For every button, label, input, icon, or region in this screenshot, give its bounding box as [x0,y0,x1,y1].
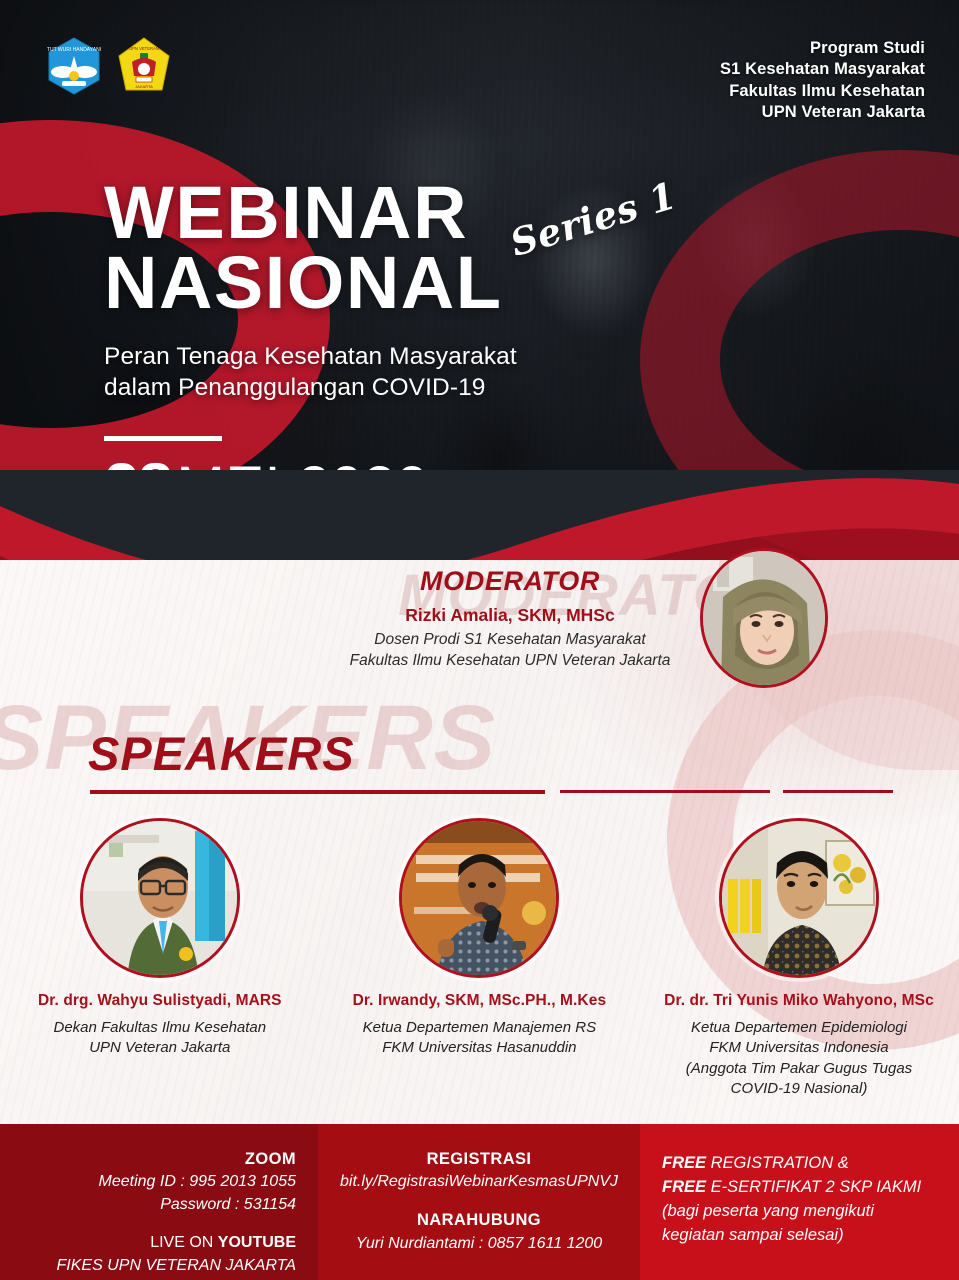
program-line-3: Fakultas Ilmu Kesehatan [720,81,925,102]
moderator-name: Rizki Amalia, SKM, MHSc [330,605,690,626]
zoom-heading: ZOOM [57,1148,296,1171]
youtube-label: YOUTUBE [218,1234,296,1251]
speaker-3-affiliation-line-2: FKM Universitas Indonesia [639,1038,959,1058]
benefit-free-2: FREE [662,1178,706,1196]
speaker-3-name: Dr. dr. Tri Yunis Miko Wahyono, MSc [639,992,959,1010]
zoom-password: Password : 531154 [57,1194,296,1217]
benefit-rest-2: E-SERTIFIKAT 2 SKP IAKMI [706,1178,921,1196]
live-on-label: LIVE ON YOUTUBE [57,1232,296,1255]
moderator-affiliation-line-1: Dosen Prodi S1 Kesehatan Masyarakat [330,630,690,651]
title-webinar: WEBINAR [104,178,864,248]
moderator-affiliation: Dosen Prodi S1 Kesehatan Masyarakat Faku… [330,630,690,672]
title-nasional-text: NASIONAL [104,241,502,324]
benefit-line-1: FREE REGISTRATION & [662,1152,921,1176]
speaker-1-affiliation-line-2: UPN Veteran Jakarta [0,1038,320,1058]
moderator-affiliation-line-2: Fakultas Ilmu Kesehatan UPN Veteran Jaka… [330,651,690,672]
benefit-line-3: (bagi peserta yang mengikuti [662,1200,921,1224]
speaker-1-name: Dr. drg. Wahyu Sulistyadi, MARS [0,992,320,1010]
speaker-card: Dr. drg. Wahyu Sulistyadi, MARS Dekan Fa… [0,818,320,1100]
logo-group: TUT WURI HANDAYANI UPN VETERAN [46,36,172,96]
svg-text:UPN VETERAN: UPN VETERAN [129,46,159,51]
contact-person: Yuri Nurdiantami : 0857 1611 1200 [318,1233,640,1256]
benefit-line-2: FREE E-SERTIFIKAT 2 SKP IAKMI [662,1176,921,1200]
speaker-3-affiliation-line-4: COVID-19 Nasional) [639,1079,959,1099]
program-line-1: Program Studi [720,38,925,59]
benefit-line-4: kegiatan sampai selesai) [662,1224,921,1248]
program-line-2: S1 Kesehatan Masyarakat [720,59,925,80]
footer-registration-panel: REGISTRASI bit.ly/RegistrasiWebinarKesma… [318,1124,640,1280]
poster-footer: ZOOM Meeting ID : 995 2013 1055 Password… [0,1124,959,1280]
speaker-card: Dr. Irwandy, SKM, MSc.PH., M.Kes Ketua D… [320,818,640,1100]
speaker-2-affiliation-line-1: Ketua Departemen Manajemen RS [320,1018,640,1038]
title-divider [104,436,222,441]
contact-heading: NARAHUBUNG [318,1209,640,1232]
speaker-3-affiliation-line-3: (Anggota Tim Pakar Gugus Tugas [639,1059,959,1079]
speaker-3-affiliation: Ketua Departemen Epidemiologi FKM Univer… [639,1018,959,1100]
speaker-2-affiliation-line-2: FKM Universitas Hasanuddin [320,1038,640,1058]
zoom-meeting-id: Meeting ID : 995 2013 1055 [57,1171,296,1194]
speaker-1-affiliation: Dekan Fakultas Ilmu Kesehatan UPN Vetera… [0,1018,320,1059]
svg-text:JAKARTA: JAKARTA [135,84,153,89]
tut-wuri-handayani-logo: TUT WURI HANDAYANI [46,36,102,96]
speaker-2-affiliation: Ketua Departemen Manajemen RS FKM Univer… [320,1018,640,1059]
moderator-block: MODERATOR Rizki Amalia, SKM, MHSc Dosen … [330,566,690,672]
upn-veteran-jakarta-logo: UPN VETERAN JAKARTA [116,36,172,96]
moderator-photo [700,548,828,688]
registration-heading: REGISTRASI [318,1148,640,1171]
benefit-rest-1: REGISTRATION & [706,1154,849,1172]
benefit-free-1: FREE [662,1154,706,1172]
speakers-divider-2 [560,790,770,793]
speaker-3-affiliation-line-1: Ketua Departemen Epidemiologi [639,1018,959,1038]
moderator-label: MODERATOR [330,566,690,597]
program-study-text: Program Studi S1 Kesehatan Masyarakat Fa… [720,38,925,124]
subtitle-line-1: Peran Tenaga Kesehatan Masyarakat [104,341,864,373]
webinar-poster: TUT WURI HANDAYANI UPN VETERAN [0,0,959,1280]
registration-link[interactable]: bit.ly/RegistrasiWebinarKesmasUPNVJ [318,1171,640,1194]
subtitle-line-2: dalam Penanggulangan COVID-19 [104,372,864,404]
footer-benefits-panel: FREE REGISTRATION & FREE E-SERTIFIKAT 2 … [640,1124,959,1280]
subtitle: Peran Tenaga Kesehatan Masyarakat dalam … [104,341,864,405]
title-nasional: NASIONAL Series 1 [104,248,864,318]
speaker-3-photo [719,818,879,978]
speakers-divider-3 [783,790,893,793]
speakers-list: Dr. drg. Wahyu Sulistyadi, MARS Dekan Fa… [0,818,959,1100]
speakers-divider-1 [90,790,545,794]
speakers-heading: SPEAKERS [88,726,355,781]
program-line-4: UPN Veteran Jakarta [720,102,925,123]
speaker-card: Dr. dr. Tri Yunis Miko Wahyono, MSc Ketu… [639,818,959,1100]
youtube-channel: FIKES UPN VETERAN JAKARTA [57,1255,296,1278]
svg-text:TUT WURI HANDAYANI: TUT WURI HANDAYANI [47,47,101,53]
poster-header: TUT WURI HANDAYANI UPN VETERAN [0,0,959,130]
speaker-1-affiliation-line-1: Dekan Fakultas Ilmu Kesehatan [0,1018,320,1038]
speaker-2-photo [399,818,559,978]
speaker-2-name: Dr. Irwandy, SKM, MSc.PH., M.Kes [320,992,640,1010]
footer-zoom-panel: ZOOM Meeting ID : 995 2013 1055 Password… [0,1124,318,1280]
live-on-prefix: LIVE ON [150,1234,218,1251]
speaker-1-photo [80,818,240,978]
